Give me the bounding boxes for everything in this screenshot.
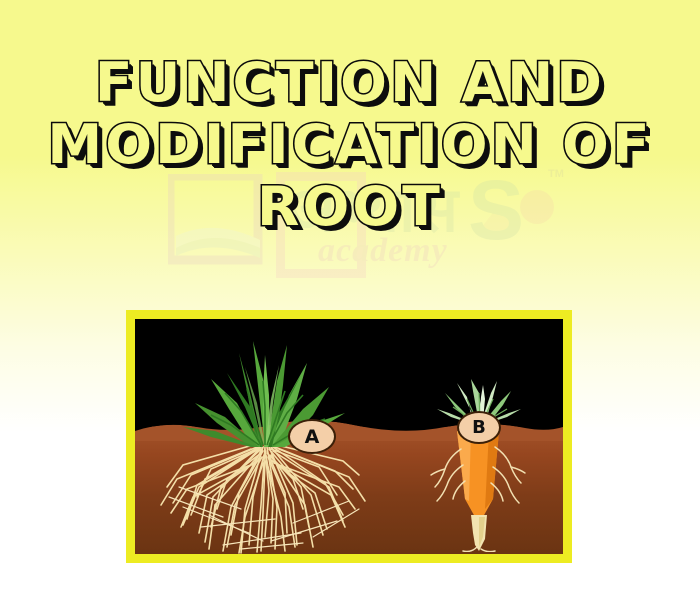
plant-tap-root — [423, 377, 533, 552]
plant-fibrous-root — [153, 337, 373, 554]
title-line-1: FUNCTION AND — [0, 52, 700, 114]
slide-canvas: अभ्यास S TM academy FUNCTION AND MODIFIC… — [0, 0, 700, 600]
page-title: FUNCTION AND MODIFICATION OF ROOT — [0, 52, 700, 238]
figure-stage: A B — [135, 319, 563, 554]
label-b: B — [457, 411, 501, 444]
figure-panel: A B — [126, 310, 572, 563]
fibrous-roots — [161, 445, 365, 553]
title-line-2: MODIFICATION OF — [0, 114, 700, 176]
label-a: A — [288, 419, 336, 454]
title-line-3: ROOT — [0, 176, 700, 238]
